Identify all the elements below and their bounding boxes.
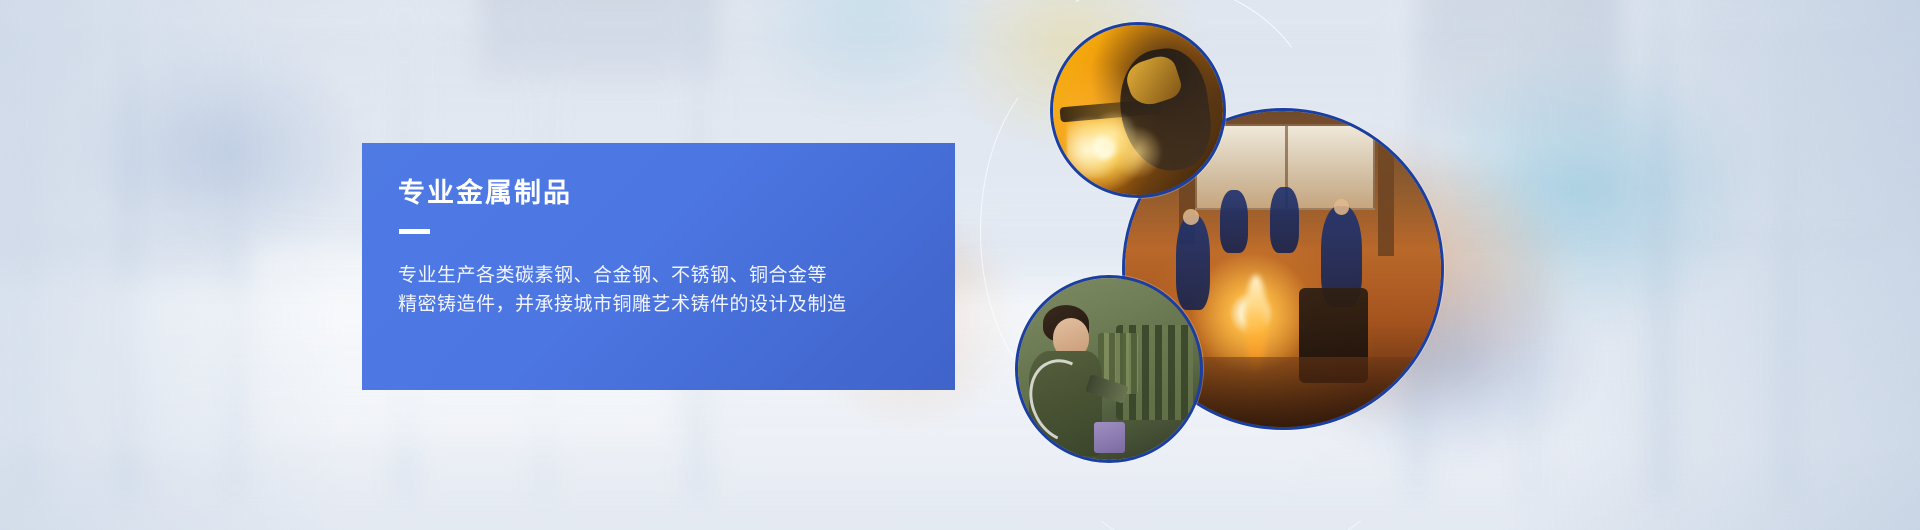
background-image (0, 0, 1920, 530)
foundry-worker (1270, 187, 1298, 253)
molten-metal-pour (1245, 275, 1267, 370)
panel-description-line-1: 专业生产各类碳素钢、合金钢、不锈钢、铜合金等 (398, 261, 955, 290)
headline-panel: 专业金属制品 专业生产各类碳素钢、合金钢、不锈钢、铜合金等 精密铸造件，并承接城… (362, 143, 955, 390)
panel-title: 专业金属制品 (398, 179, 955, 209)
panel-description: 专业生产各类碳素钢、合金钢、不锈钢、铜合金等 精密铸造件，并承接城市铜雕艺术铸件… (398, 261, 955, 320)
foundry-frame-right (1378, 117, 1394, 256)
hero-banner: 专业金属制品 专业生产各类碳素钢、合金钢、不锈钢、铜合金等 精密铸造件，并承接城… (0, 0, 1920, 530)
foundry-worker (1220, 190, 1248, 253)
assembly-photo-image (1018, 278, 1200, 460)
foundry-worker-head (1183, 209, 1199, 225)
panel-description-line-2: 精密铸造件，并承接城市铜雕艺术铸件的设计及制造 (398, 290, 955, 319)
assembly-part (1094, 422, 1125, 453)
welding-photo-image (1053, 25, 1223, 195)
background-vignette (0, 0, 1920, 530)
assembly-photo (1015, 275, 1203, 463)
title-divider (399, 229, 430, 234)
welding-sparks (1067, 107, 1179, 178)
welding-photo (1050, 22, 1226, 198)
